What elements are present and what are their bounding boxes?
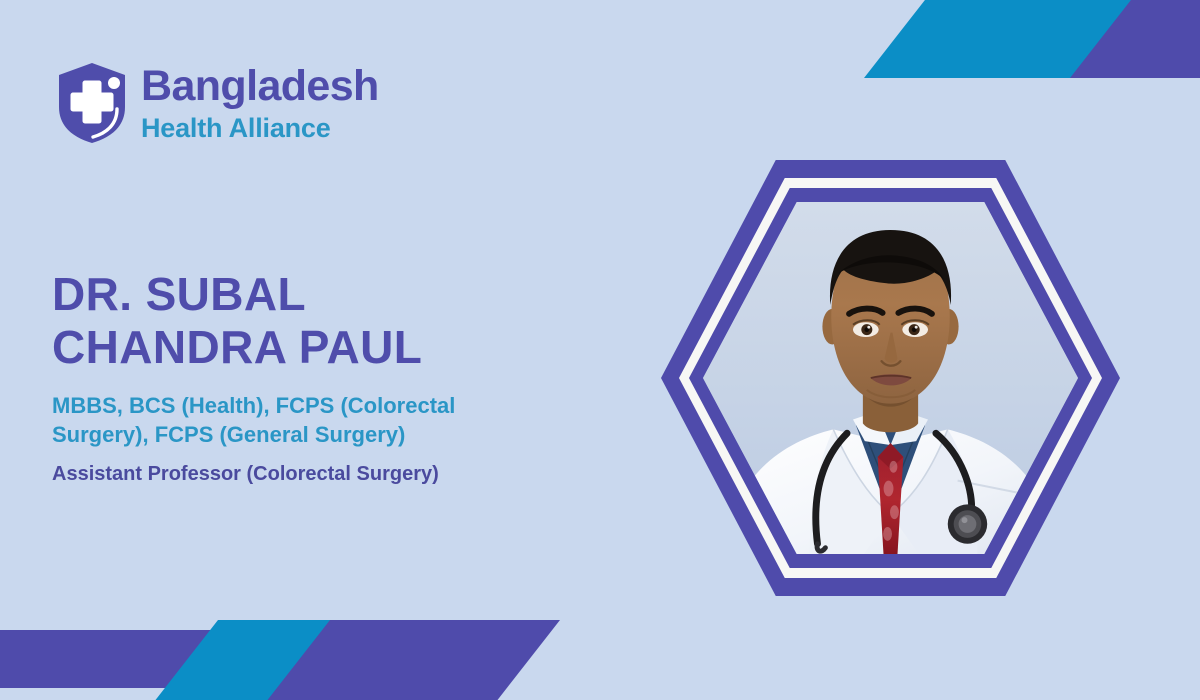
brand-logo: Bangladesh Health Alliance [55,62,379,144]
doctor-qualifications: MBBS, BCS (Health), FCPS (Colorectal Sur… [52,391,552,449]
doctor-name: DR. SUBAL CHANDRA PAUL [52,268,612,375]
brand-subtitle: Health Alliance [141,115,379,142]
brand-title: Bangladesh [141,65,379,108]
doctor-profile-card: Bangladesh Health Alliance DR. SUBAL CHA… [0,0,1200,700]
doctor-info: DR. SUBAL CHANDRA PAUL MBBS, BCS (Health… [52,268,612,487]
doctor-portrait-frame [661,160,1120,596]
shield-medical-cross-icon [55,62,129,144]
doctor-position: Assistant Professor (Colorectal Surgery) [52,461,612,487]
